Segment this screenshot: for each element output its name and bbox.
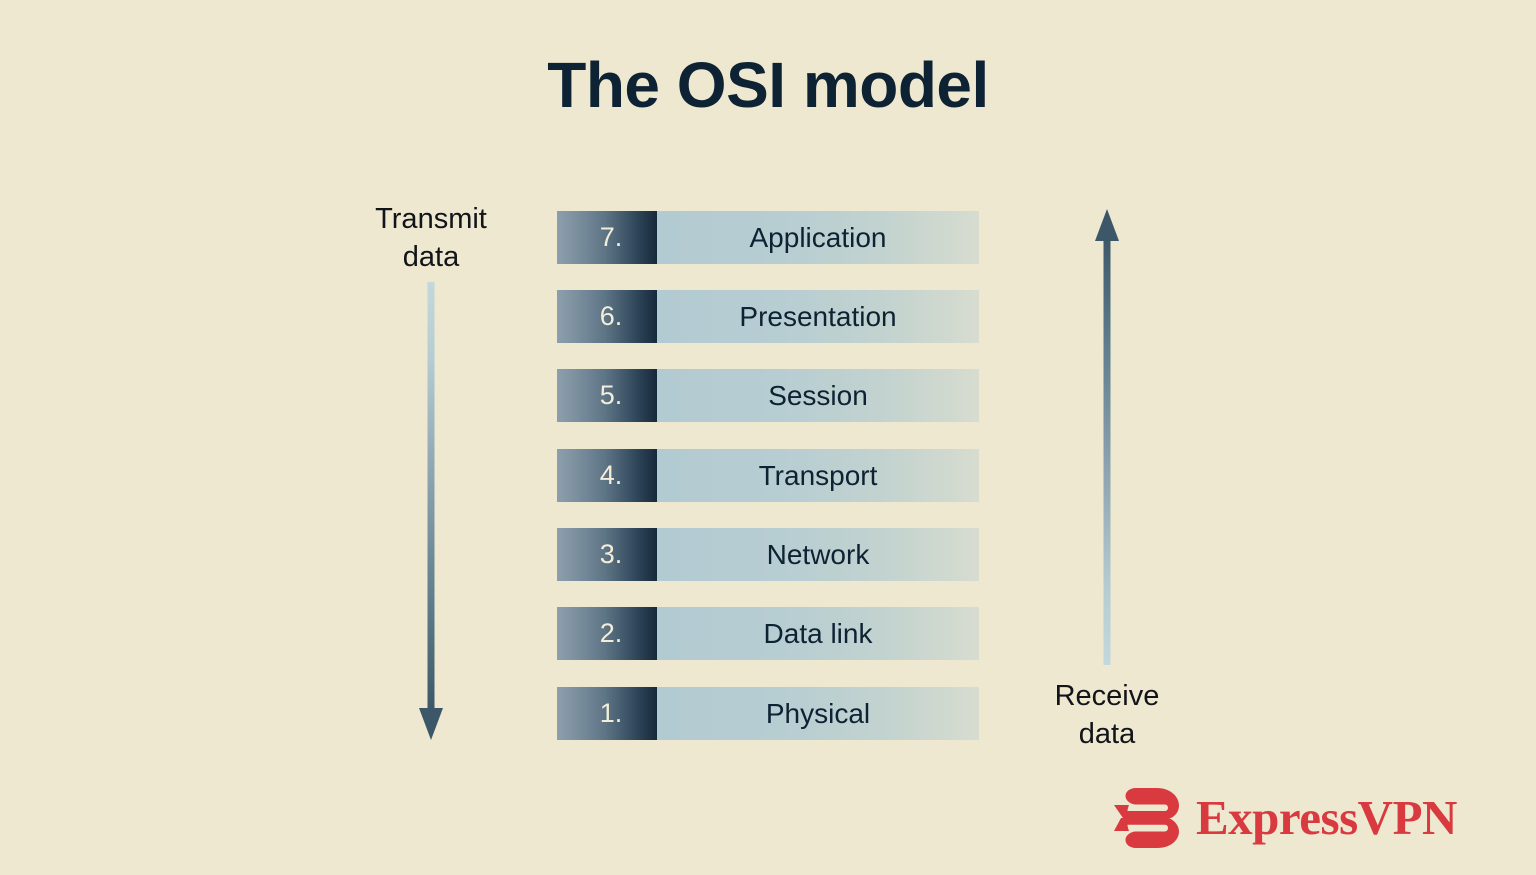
page-title: The OSI model	[0, 52, 1536, 119]
layer-name: Session	[768, 380, 868, 412]
layer-row-network[interactable]: 3. Network	[557, 528, 979, 581]
layer-number: 3.	[600, 539, 623, 570]
receive-label-line1: Receive	[1007, 677, 1207, 715]
layer-name-cell: Session	[657, 369, 979, 422]
layer-number-cell: 4.	[557, 449, 657, 502]
layer-name-cell: Data link	[657, 607, 979, 660]
layer-number-cell: 5.	[557, 369, 657, 422]
layer-name: Presentation	[739, 301, 896, 333]
layer-number: 6.	[600, 301, 623, 332]
layer-row-presentation[interactable]: 6. Presentation	[557, 290, 979, 343]
osi-layer-stack: 7. Application 6. Presentation 5. Sessio…	[557, 211, 979, 741]
layer-name-cell: Presentation	[657, 290, 979, 343]
expressvpn-wordmark: ExpressVPN	[1196, 793, 1457, 842]
layer-name-cell: Network	[657, 528, 979, 581]
transmit-data-arrow-down-icon	[411, 282, 451, 744]
transmit-data-label: Transmit data	[331, 200, 531, 277]
layer-row-transport[interactable]: 4. Transport	[557, 449, 979, 502]
expressvpn-logo: ExpressVPN	[1110, 783, 1440, 853]
layer-row-session[interactable]: 5. Session	[557, 369, 979, 422]
receive-label-line2: data	[1007, 715, 1207, 753]
layer-number: 4.	[600, 460, 623, 491]
layer-number: 1.	[600, 698, 623, 729]
layer-name-cell: Physical	[657, 687, 979, 740]
diagram-canvas: The OSI model Transmit data 7. Applicati…	[0, 0, 1536, 875]
layer-name-cell: Application	[657, 211, 979, 264]
layer-number-cell: 6.	[557, 290, 657, 343]
layer-number-cell: 2.	[557, 607, 657, 660]
receive-data-label: Receive data	[1007, 677, 1207, 754]
layer-number: 7.	[600, 222, 623, 253]
layer-row-data-link[interactable]: 2. Data link	[557, 607, 979, 660]
layer-name: Application	[750, 222, 887, 254]
layer-number-cell: 7.	[557, 211, 657, 264]
layer-name-cell: Transport	[657, 449, 979, 502]
receive-data-arrow-up-icon	[1087, 207, 1127, 665]
layer-name: Data link	[764, 618, 873, 650]
transmit-label-line2: data	[331, 238, 531, 276]
layer-row-physical[interactable]: 1. Physical	[557, 687, 979, 740]
layer-name: Network	[767, 539, 870, 571]
layer-number-cell: 3.	[557, 528, 657, 581]
layer-name: Transport	[759, 460, 878, 492]
expressvpn-mark-icon	[1110, 785, 1182, 851]
layer-name: Physical	[766, 698, 870, 730]
layer-number: 2.	[600, 618, 623, 649]
layer-number: 5.	[600, 380, 623, 411]
transmit-label-line1: Transmit	[331, 200, 531, 238]
layer-row-application[interactable]: 7. Application	[557, 211, 979, 264]
layer-number-cell: 1.	[557, 687, 657, 740]
